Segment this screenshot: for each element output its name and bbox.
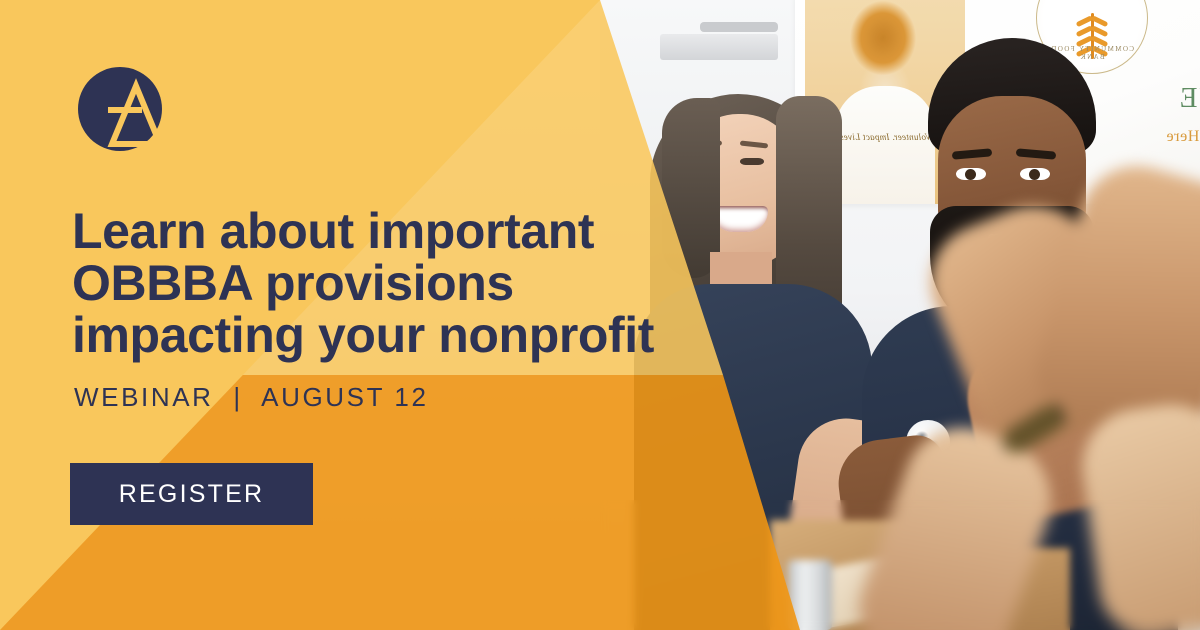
event-meta-separator: | [223, 382, 252, 412]
headline-line-2: OBBBA provisions [72, 255, 514, 311]
door-closer-icon [660, 34, 778, 60]
cla-circle-logo [72, 66, 172, 156]
page-title: Learn about important OBBBA provisions i… [72, 205, 712, 361]
event-date: AUGUST 12 [261, 382, 428, 412]
event-type: WEBINAR [74, 382, 214, 412]
register-button-label: REGISTER [119, 480, 264, 509]
event-meta: WEBINAR | AUGUST 12 [74, 382, 429, 413]
register-button[interactable]: REGISTER [70, 463, 313, 525]
door-closer-arm [700, 22, 778, 32]
webinar-promo-banner: Volunteer. Impact Lives. COMMUNITY FOOD … [0, 0, 1200, 630]
poster-title: FOOD DRIVE [1178, 82, 1200, 115]
headline-line-3: impacting your nonprofit [72, 307, 654, 363]
poster-subtitle: Donate Here [1166, 128, 1200, 146]
headline-line-1: Learn about important [72, 203, 594, 259]
